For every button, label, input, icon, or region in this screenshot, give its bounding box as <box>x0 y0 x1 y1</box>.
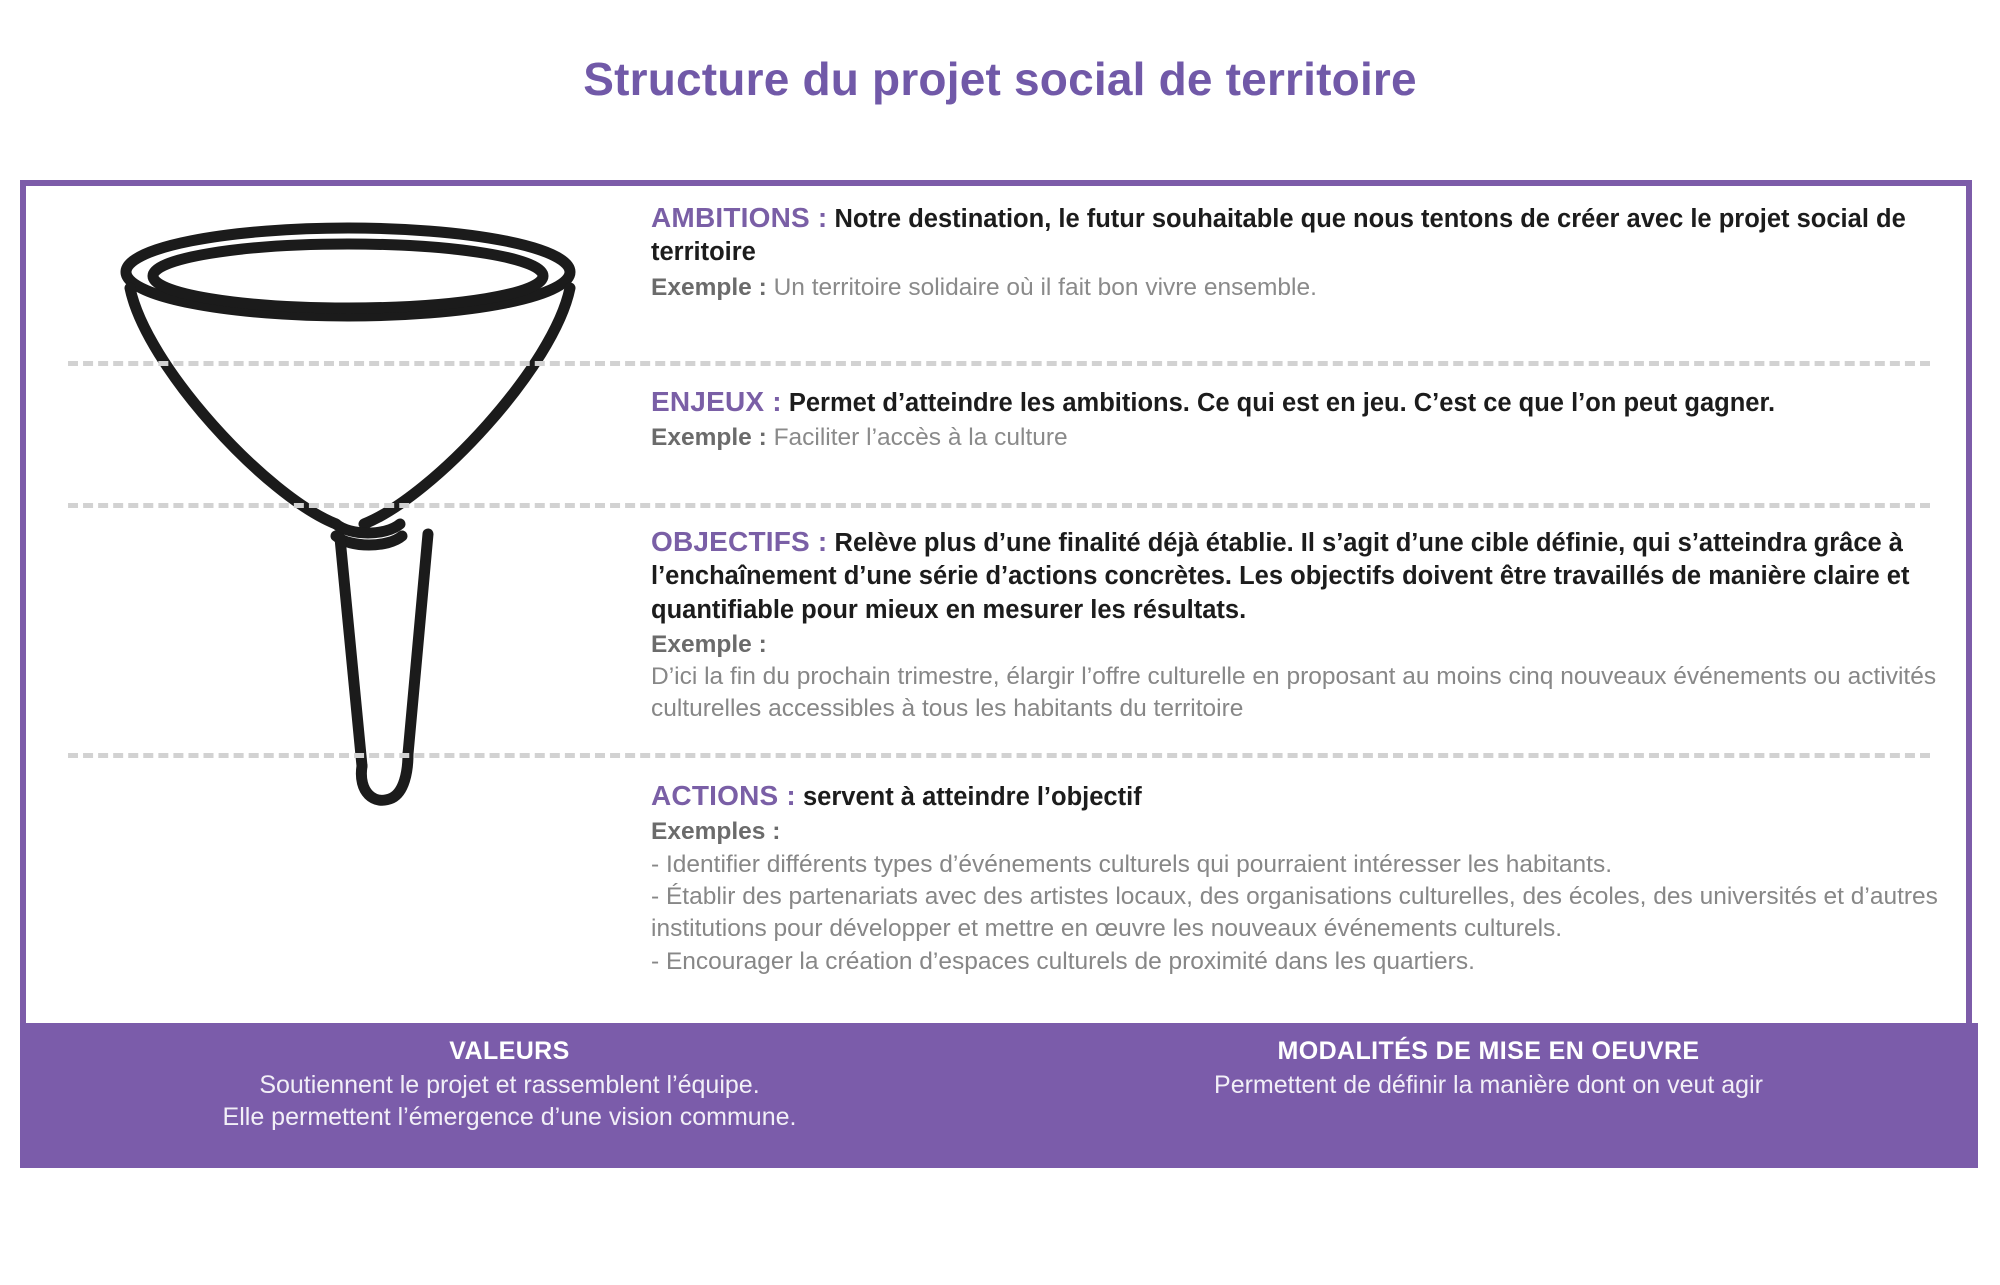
enjeux-example-label: Exemple : <box>651 424 767 451</box>
enjeux-lead-text: Permet d’atteindre les ambitions. Ce qui… <box>789 389 1775 417</box>
separator-dashed-1 <box>68 361 1930 366</box>
objectifs-example-label: Exemple : <box>651 631 767 658</box>
ambitions-lead-text: Notre destination, le futur souhaitable … <box>651 205 1906 266</box>
enjeux-keyword: ENJEUX : <box>651 386 782 417</box>
enjeux-example-body: Faciliter l’accès à la culture <box>774 424 1068 451</box>
objectifs-lead: OBJECTIFS : Relève plus d’une finalité d… <box>651 524 1941 627</box>
actions-lead: ACTIONS : servent à atteindre l’objectif <box>651 778 1941 814</box>
objectifs-lead-text: Relève plus d’une finalité déjà établie.… <box>651 529 1909 624</box>
ambitions-example-label: Exemple : <box>651 274 767 301</box>
actions-example-label-line: Exemples : <box>651 816 1941 848</box>
ambitions-lead: AMBITIONS : Notre destination, le futur … <box>651 200 1941 270</box>
footer-modalites-title: MODALITÉS DE MISE EN OEUVRE <box>999 1037 1978 1066</box>
section-objectifs: OBJECTIFS : Relève plus d’une finalité d… <box>651 524 1941 726</box>
footer-band: VALEURS Soutiennent le projet et rassemb… <box>20 1023 1978 1168</box>
enjeux-example: Exemple : Faciliter l’accès à la culture <box>651 422 1941 454</box>
section-enjeux: ENJEUX : Permet d’atteindre les ambition… <box>651 384 1941 455</box>
objectifs-example-detail: D’ici la fin du prochain trimestre, élar… <box>651 661 1941 726</box>
footer-column-valeurs: VALEURS Soutiennent le projet et rassemb… <box>20 1023 999 1168</box>
footer-valeurs-line2: Elle permettent l’émergence d’une vision… <box>20 1102 999 1134</box>
separator-dashed-3 <box>68 753 1930 758</box>
page-title: Structure du projet social de territoire <box>0 54 2000 105</box>
actions-bullet-1: - Identifier différents types d’événemen… <box>651 849 1941 881</box>
enjeux-lead: ENJEUX : Permet d’atteindre les ambition… <box>651 384 1941 420</box>
diagram-card: AMBITIONS : Notre destination, le futur … <box>20 180 1972 1168</box>
footer-modalites-line1: Permettent de définir la manière dont on… <box>999 1070 1978 1102</box>
ambitions-keyword: AMBITIONS : <box>651 202 827 233</box>
footer-valeurs-line1: Soutiennent le projet et rassemblent l’é… <box>20 1070 999 1102</box>
actions-keyword: ACTIONS : <box>651 780 796 811</box>
footer-column-modalites: MODALITÉS DE MISE EN OEUVRE Permettent d… <box>999 1023 1978 1168</box>
section-actions: ACTIONS : servent à atteindre l’objectif… <box>651 778 1941 978</box>
actions-example-label: Exemples : <box>651 818 780 845</box>
actions-lead-text: servent à atteindre l’objectif <box>803 783 1142 811</box>
ambitions-example-body: Un territoire solidaire où il fait bon v… <box>774 274 1317 301</box>
actions-bullet-2: - Établir des partenariats avec des arti… <box>651 881 1941 946</box>
funnel-illustration <box>86 206 646 926</box>
ambitions-example: Exemple : Un territoire solidaire où il … <box>651 272 1941 304</box>
objectifs-example-label-line: Exemple : <box>651 629 1941 661</box>
separator-dashed-2 <box>68 503 1930 508</box>
actions-bullet-3: - Encourager la création d’espaces cultu… <box>651 946 1941 978</box>
footer-valeurs-title: VALEURS <box>20 1037 999 1066</box>
section-ambitions: AMBITIONS : Notre destination, le futur … <box>651 200 1941 304</box>
objectifs-keyword: OBJECTIFS : <box>651 526 827 557</box>
